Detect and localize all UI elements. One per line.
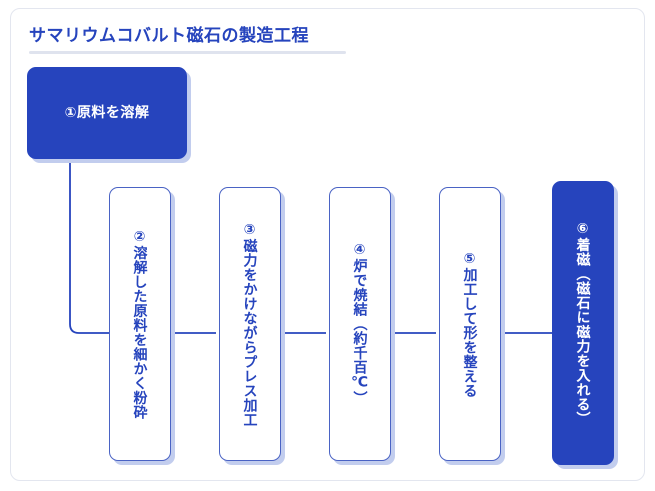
step-2-label: ②溶解した原料を細かく粉砕 <box>131 221 148 428</box>
process-step-1[interactable]: ①原料を溶解 <box>27 67 187 159</box>
process-step-4[interactable]: ④炉で焼結（約千百℃） <box>329 187 391 461</box>
diagram-card: サマリウムコバルト磁石の製造工程 ①原料を溶解 ②溶解した原料を細かく粉砕 ③磁… <box>10 8 645 481</box>
process-step-2[interactable]: ②溶解した原料を細かく粉砕 <box>109 187 171 461</box>
step-4-label: ④炉で焼結（約千百℃） <box>351 234 368 414</box>
step-6-label: ⑥着磁（磁石に磁力を入れる） <box>574 213 591 434</box>
step-3-label: ③磁力をかけながらプレス加工 <box>241 214 258 435</box>
step-2-face: ②溶解した原料を細かく粉砕 <box>109 187 171 461</box>
page-title: サマリウムコバルト磁石の製造工程 <box>29 21 309 46</box>
connector-step1-step2 <box>70 159 109 333</box>
process-step-6[interactable]: ⑥着磁（磁石に磁力を入れる） <box>552 181 614 465</box>
step-1-label: ①原料を溶解 <box>59 104 156 121</box>
step-3-face: ③磁力をかけながらプレス加工 <box>219 187 281 461</box>
process-step-3[interactable]: ③磁力をかけながらプレス加工 <box>219 187 281 461</box>
step-4-face: ④炉で焼結（約千百℃） <box>329 187 391 461</box>
step-5-label: ⑤加工して形を整える <box>461 243 478 406</box>
process-step-5[interactable]: ⑤加工して形を整える <box>439 187 501 461</box>
step-1-face: ①原料を溶解 <box>27 67 187 159</box>
step-5-face: ⑤加工して形を整える <box>439 187 501 461</box>
step-6-face: ⑥着磁（磁石に磁力を入れる） <box>552 181 614 465</box>
title-divider <box>29 51 346 54</box>
